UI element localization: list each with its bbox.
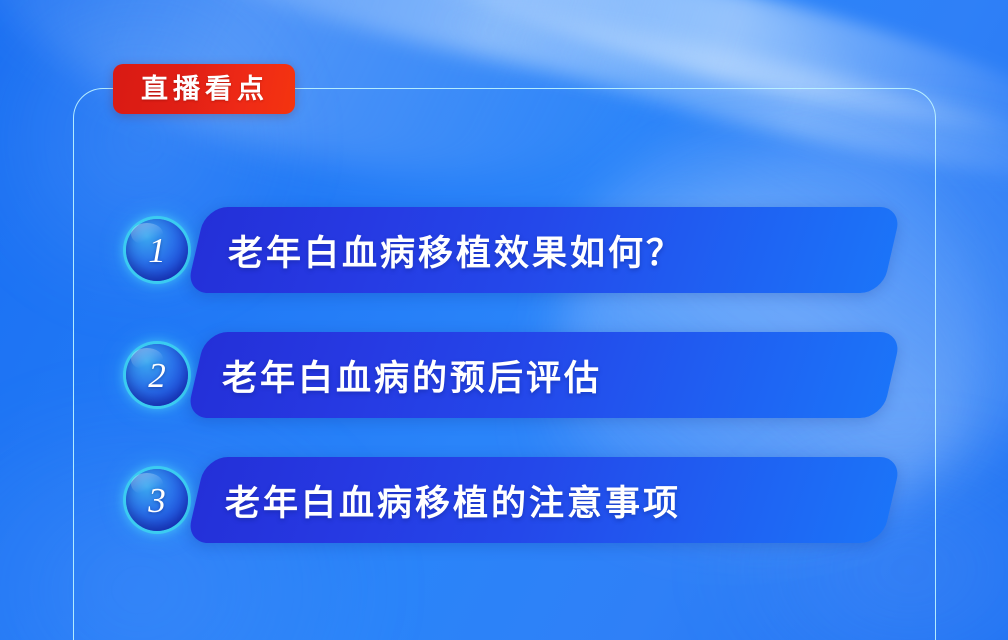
list-item[interactable]: 3 老年白血病移植的注意事项 <box>0 457 1008 543</box>
list-item-label: 老年白血病移植效果如何？ <box>228 207 684 293</box>
list-item-number-medallion: 3 <box>126 469 188 531</box>
list-item-label: 老年白血病移植的注意事项 <box>225 457 681 543</box>
topic-list: 1 老年白血病移植效果如何？ 2 老年白血病的预后评估 3 老年白血病移植的注意… <box>0 0 1008 640</box>
list-item-number: 2 <box>148 358 166 393</box>
list-item[interactable]: 1 老年白血病移植效果如何？ <box>0 207 1008 293</box>
list-item-label: 老年白血病的预后评估 <box>222 332 602 418</box>
list-item-number: 3 <box>148 483 166 518</box>
list-item[interactable]: 2 老年白血病的预后评估 <box>0 332 1008 418</box>
list-item-number-medallion: 2 <box>126 344 188 406</box>
list-item-number-medallion: 1 <box>126 219 188 281</box>
list-item-number: 1 <box>148 233 166 268</box>
slide-canvas: 直播看点 1 老年白血病移植效果如何？ 2 老年白血病的预后评估 3 老年白血病… <box>0 0 1008 640</box>
